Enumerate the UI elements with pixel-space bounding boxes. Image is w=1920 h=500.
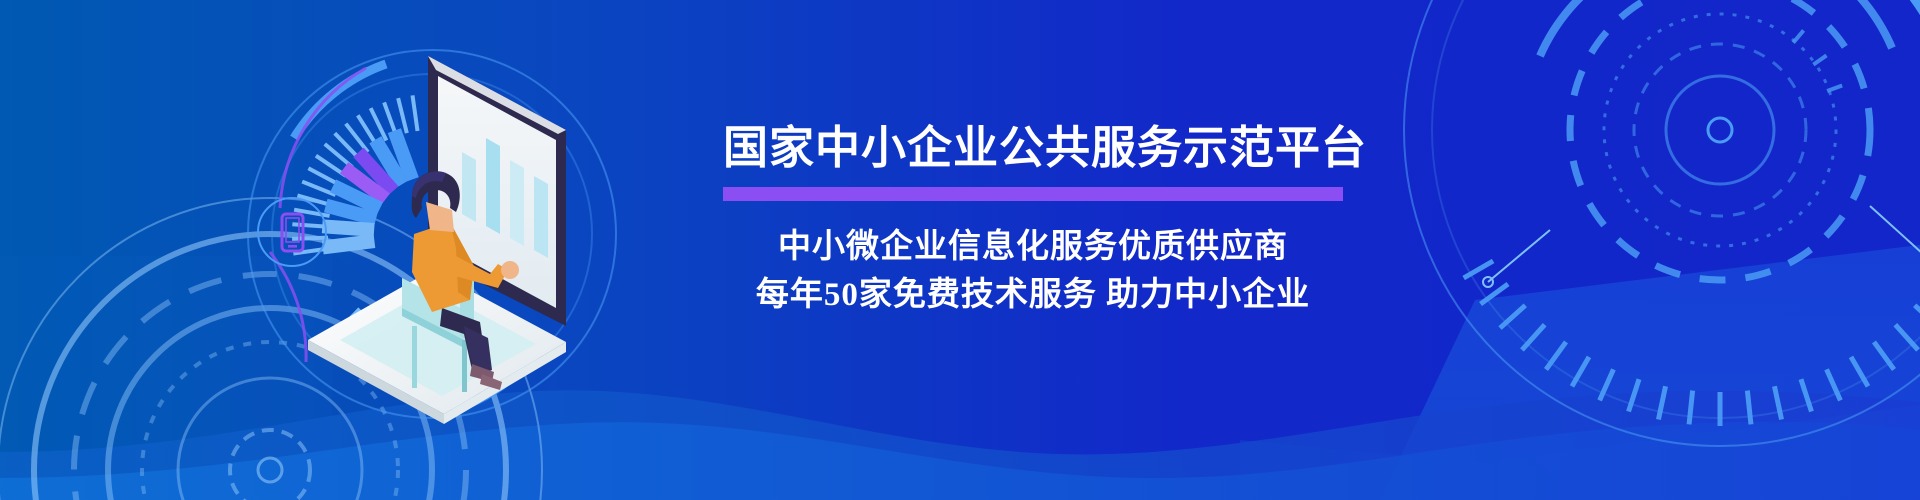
page-title: 国家中小企业公共服务示范平台: [723, 124, 1423, 173]
subtitle-line-1: 中小微企业信息化服务优质供应商: [723, 223, 1343, 272]
hud-circles-top-right: [1400, 0, 1920, 450]
right-polygon-upper: [1380, 240, 1920, 500]
right-polygon-lower: [1500, 400, 1920, 500]
banner-copy: 国家中小企业公共服务示范平台 中小微企业信息化服务优质供应商 每年50家免费技术…: [723, 124, 1423, 320]
mobile-phone-badge: [258, 198, 326, 266]
illustration-isometric-workspace: [236, 26, 626, 446]
hero-banner: 国家中小企业公共服务示范平台 中小微企业信息化服务优质供应商 每年50家免费技术…: [0, 0, 1920, 500]
title-divider: [723, 187, 1343, 201]
subtitle-line-2: 每年50家免费技术服务 助力中小企业: [723, 271, 1343, 320]
